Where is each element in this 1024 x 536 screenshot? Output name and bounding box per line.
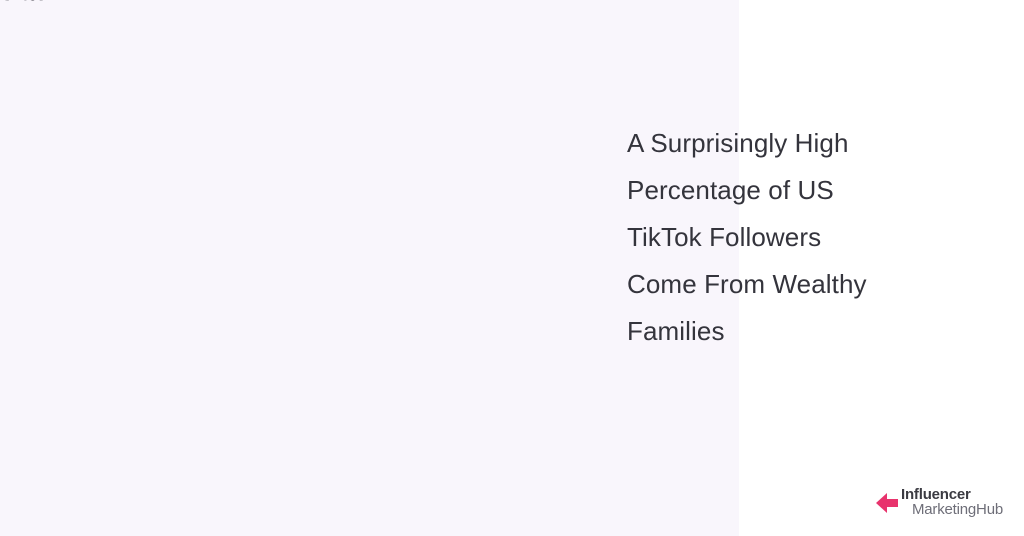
influencer-marketing-hub-logo[interactable]: Influencer MarketingHub bbox=[876, 480, 1016, 524]
pie-chart-svg: 40.2%$100K+15.4%<$25K11.2%$25-40K12.4%$4… bbox=[0, 0, 660, 536]
pie-chart: 40.2%$100K+15.4%<$25K11.2%$25-40K12.4%$4… bbox=[0, 0, 660, 536]
logo-wordmark: Influencer MarketingHub bbox=[901, 487, 1003, 518]
headline-line-4: Come From Wealthy bbox=[627, 261, 957, 308]
slice-category-label: $75-100K bbox=[0, 0, 33, 4]
headline-line-3: TikTok Followers bbox=[627, 214, 957, 261]
headline-text: A Surprisingly High Percentage of US Tik… bbox=[627, 120, 957, 355]
logo-line-marketinghub: MarketingHub bbox=[912, 502, 1003, 517]
headline-line-5: Families bbox=[627, 308, 957, 355]
infographic-canvas: 40.2%$100K+15.4%<$25K11.2%$25-40K12.4%$4… bbox=[0, 0, 1024, 536]
left-arrow-icon bbox=[876, 490, 898, 516]
headline-line-2: Percentage of US bbox=[627, 167, 957, 214]
logo-line-influencer: Influencer bbox=[901, 487, 1003, 502]
headline-line-1: A Surprisingly High bbox=[627, 120, 957, 167]
pie-labels-group: 40.2%$100K+15.4%<$25K11.2%$25-40K12.4%$4… bbox=[0, 0, 48, 8]
